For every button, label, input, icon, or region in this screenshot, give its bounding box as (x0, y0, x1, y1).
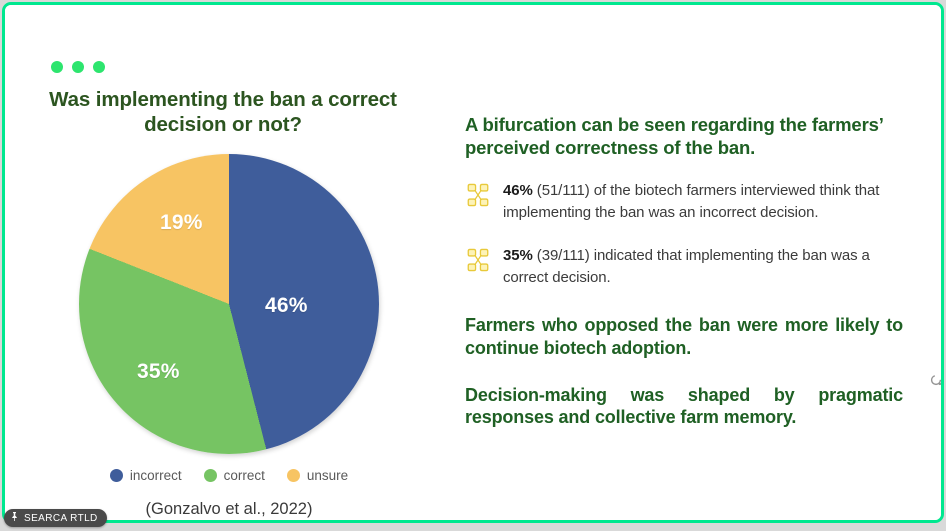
bullet-text: 35% (39/111) indicated that implementing… (503, 245, 903, 289)
legend-item-correct: correct (204, 468, 265, 483)
pie-label-incorrect: 46% (265, 294, 308, 318)
watermark-badge: SEARCA RTLD (4, 509, 107, 527)
panel-headline: A bifurcation can be seen regarding the … (465, 113, 903, 159)
dot-1-icon (51, 61, 63, 73)
pin-icon (10, 509, 19, 527)
pie-chart: 46% 35% 19% (79, 154, 379, 454)
legend-item-unsure: unsure (287, 468, 348, 483)
pie-label-unsure: 19% (160, 211, 203, 235)
decorative-dots (51, 61, 105, 73)
dot-3-icon (93, 61, 105, 73)
chart-title: Was implementing the ban a correct decis… (43, 87, 403, 137)
pie-label-correct: 35% (137, 360, 180, 384)
green-statement: Farmers who opposed the ban were more li… (465, 314, 903, 359)
presentation-slide: Was implementing the ban a correct decis… (5, 5, 941, 520)
chart-legend: incorrect correct unsure (29, 468, 429, 483)
legend-item-incorrect: incorrect (110, 468, 182, 483)
text-column: A bifurcation can be seen regarding the … (465, 113, 903, 429)
teamwork-hands-icon (465, 247, 491, 273)
bullet-stat: 46% (503, 182, 533, 199)
green-statement: Decision-making was shaped by pragmatic … (465, 384, 903, 429)
screen-root: Was implementing the ban a correct decis… (0, 0, 946, 531)
legend-swatch-incorrect (110, 469, 123, 482)
legend-label-unsure: unsure (307, 468, 348, 483)
bullet-rest: (51/111) of the biotech farmers intervie… (503, 182, 879, 221)
bullet-item: 46% (51/111) of the biotech farmers inte… (465, 180, 903, 224)
legend-label-correct: correct (224, 468, 265, 483)
busy-cursor-icon (929, 373, 943, 387)
legend-swatch-correct (204, 469, 217, 482)
legend-label-incorrect: incorrect (130, 468, 182, 483)
dot-2-icon (72, 61, 84, 73)
pie-graphic (79, 154, 379, 454)
bullet-stat: 35% (503, 247, 533, 264)
bullet-item: 35% (39/111) indicated that implementing… (465, 245, 903, 289)
teamwork-hands-icon (465, 182, 491, 208)
bullet-rest: (39/111) indicated that implementing the… (503, 247, 870, 286)
legend-swatch-unsure (287, 469, 300, 482)
chart-column: Was implementing the ban a correct decis… (29, 87, 429, 454)
bullet-text: 46% (51/111) of the biotech farmers inte… (503, 180, 903, 224)
watermark-label: SEARCA RTLD (24, 513, 98, 524)
screen-share-frame: Was implementing the ban a correct decis… (2, 2, 944, 523)
